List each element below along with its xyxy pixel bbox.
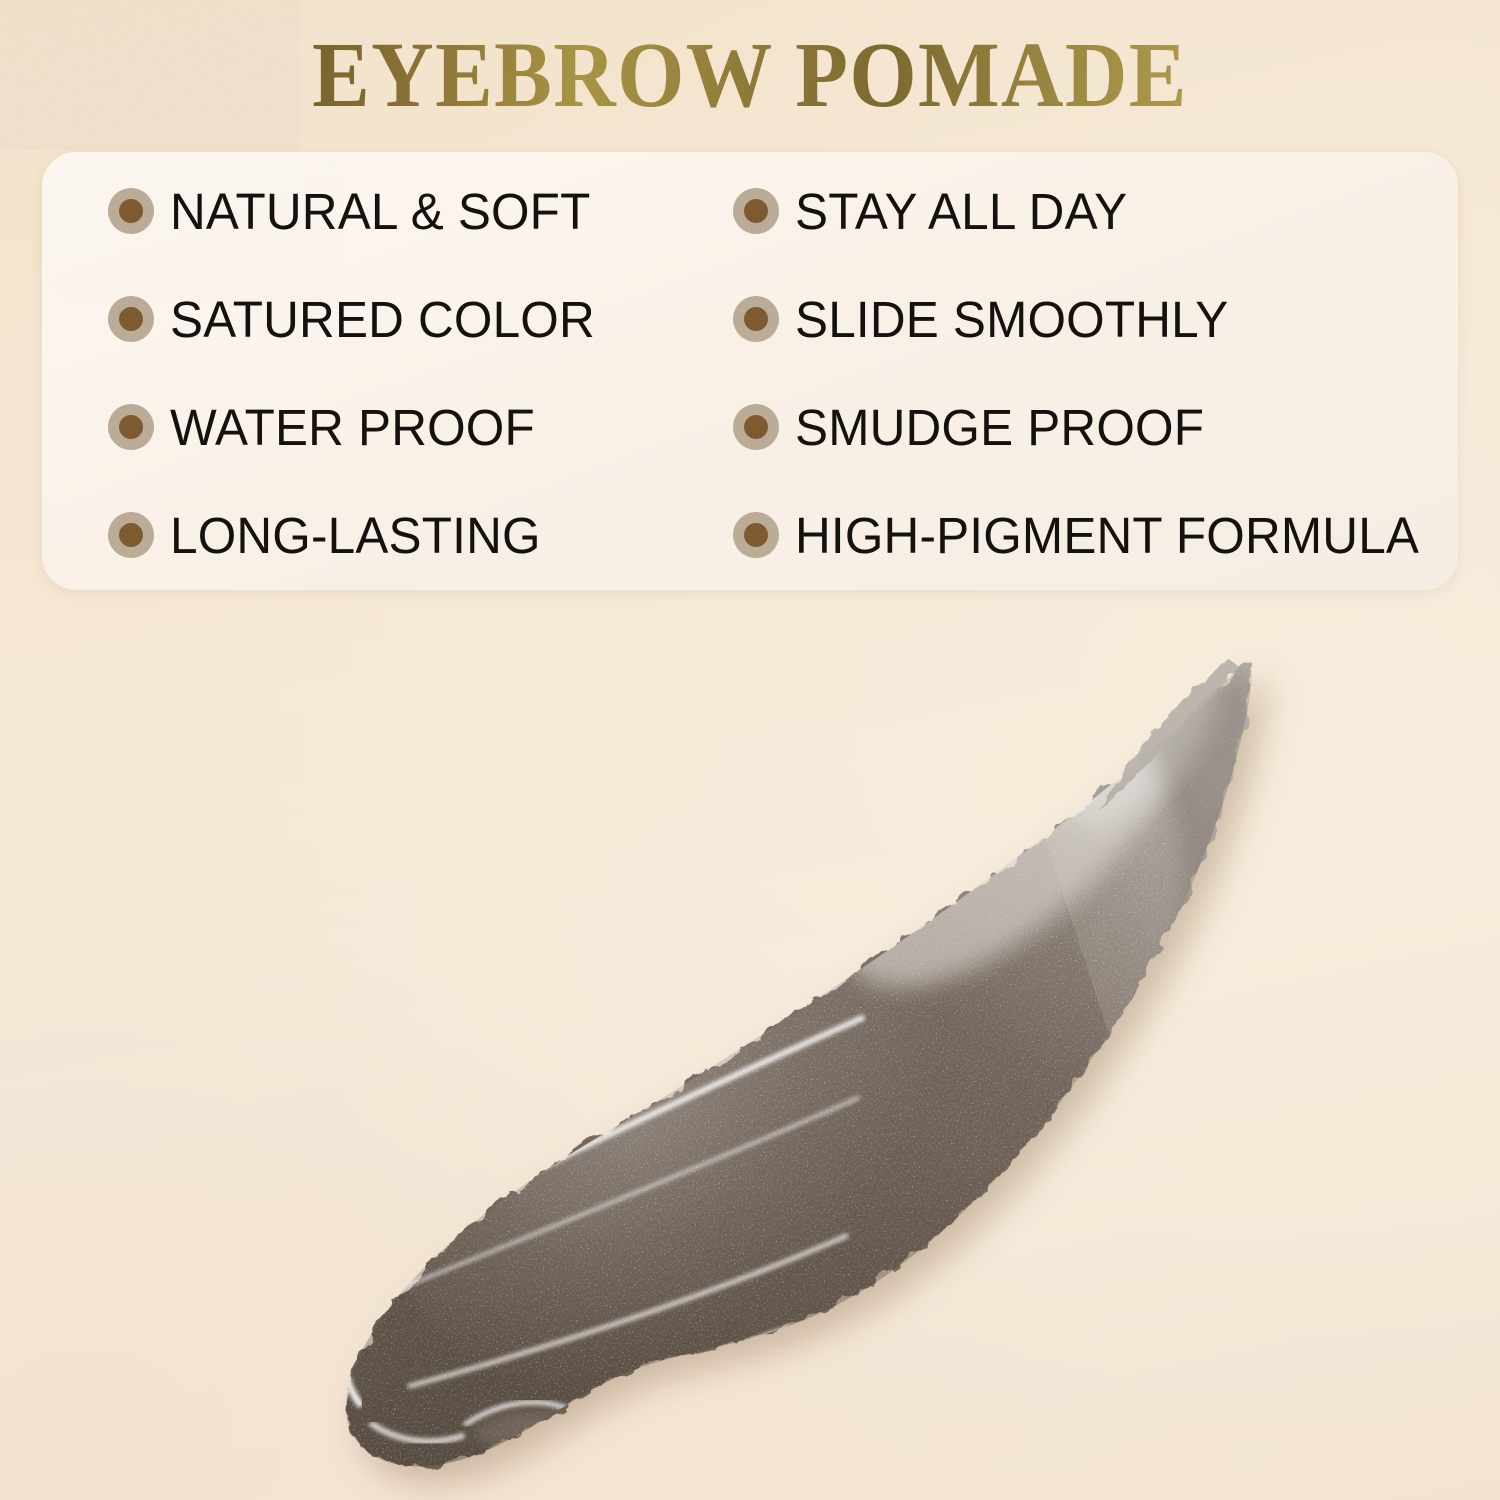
features-list: NATURAL & SOFT SATURED COLOR WATER PROOF… [42,152,1458,590]
bullet-icon [733,512,779,558]
feature-item-high-pigment-formula: HIGH-PIGMENT FORMULA [733,504,1438,566]
feature-item-natural-and-soft: NATURAL & SOFT [108,180,604,242]
feature-item-satured-color: SATURED COLOR [108,288,608,350]
feature-item-smudge-proof: SMUDGE PROOF [733,396,1217,458]
feature-label: WATER PROOF [170,398,535,457]
feature-label: SMUDGE PROOF [795,398,1204,457]
product-feature-image: EYEBROW POMADE NATURAL & SOFT [0,0,1500,1500]
feature-item-slide-smoothly: SLIDE SMOOTHLY [733,288,1242,350]
bullet-icon [733,188,779,234]
bullet-icon [108,296,154,342]
feature-item-water-proof: WATER PROOF [108,396,546,458]
feature-label: SLIDE SMOOTHLY [795,290,1228,349]
page-title: EYEBROW POMADE [53,26,1448,126]
feature-item-long-lasting: LONG-LASTING [108,504,552,566]
bullet-icon [108,404,154,450]
features-card: NATURAL & SOFT SATURED COLOR WATER PROOF… [42,152,1458,590]
bullet-icon [108,188,154,234]
feature-label: HIGH-PIGMENT FORMULA [795,506,1419,565]
bullet-icon [108,512,154,558]
feature-item-stay-all-day: STAY ALL DAY [733,180,1138,242]
feature-label: NATURAL & SOFT [170,182,591,241]
bullet-icon [733,404,779,450]
bullet-icon [733,296,779,342]
feature-label: LONG-LASTING [170,506,541,565]
feature-label: SATURED COLOR [170,290,595,349]
feature-label: STAY ALL DAY [795,182,1127,241]
